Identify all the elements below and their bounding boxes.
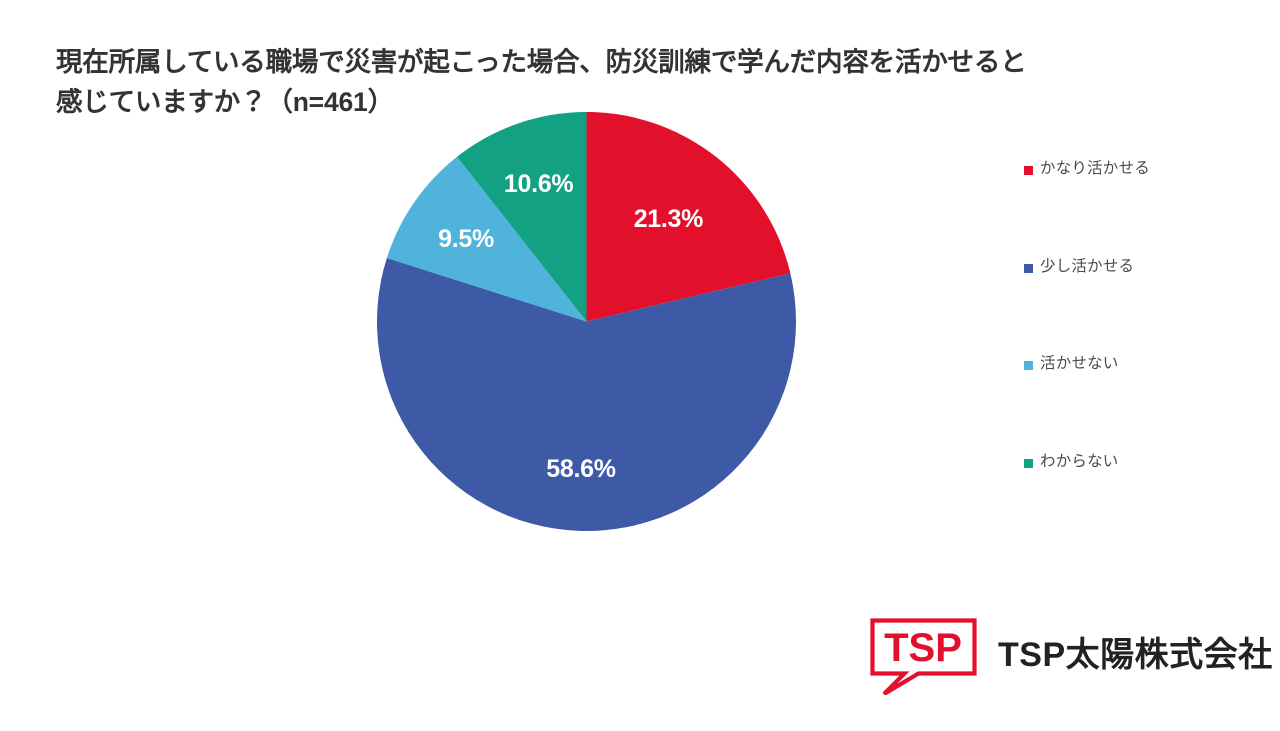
legend-item-label: 少し活かせる [1040,258,1134,277]
pie-data-label: 58.6% [546,455,615,483]
legend-swatch-icon [1024,264,1033,273]
company-name: TSP太陽株式会社 [998,627,1273,676]
pie-data-label: 10.6% [504,170,573,198]
legend-item-label: 活かせない [1040,355,1119,374]
pie-data-label: 9.5% [438,225,494,253]
legend-swatch-icon [1024,361,1033,370]
pie-data-label: 21.3% [634,205,703,233]
brand-logo: TSP TSP太陽株式会社 [868,615,1240,695]
legend-item-ikasenai[interactable]: 活かせない [1024,355,1234,453]
tsp-speech-bubble-icon: TSP [868,615,980,695]
pie-chart: 21.3%58.6%9.5%10.6% [377,112,796,531]
legend-item-label: かなり活かせる [1040,160,1150,179]
page-title: 現在所属している職場で災害が起こった場合、防災訓練で学んだ内容を活かせると 感じ… [56,42,1116,123]
pie-chart-svg: 21.3%58.6%9.5%10.6% [377,112,796,531]
legend-swatch-icon [1024,166,1033,175]
tsp-monogram: TSP [884,626,962,670]
chart-legend: かなり活かせる 少し活かせる 活かせない わからない [1024,160,1234,550]
legend-item-label: わからない [1040,453,1119,472]
slide-canvas: 現在所属している職場で災害が起こった場合、防災訓練で学んだ内容を活かせると 感じ… [0,0,1280,731]
legend-swatch-icon [1024,459,1033,468]
legend-item-wakaranai[interactable]: わからない [1024,453,1234,551]
legend-item-sukoshi[interactable]: 少し活かせる [1024,258,1234,356]
legend-item-kanari[interactable]: かなり活かせる [1024,160,1234,258]
